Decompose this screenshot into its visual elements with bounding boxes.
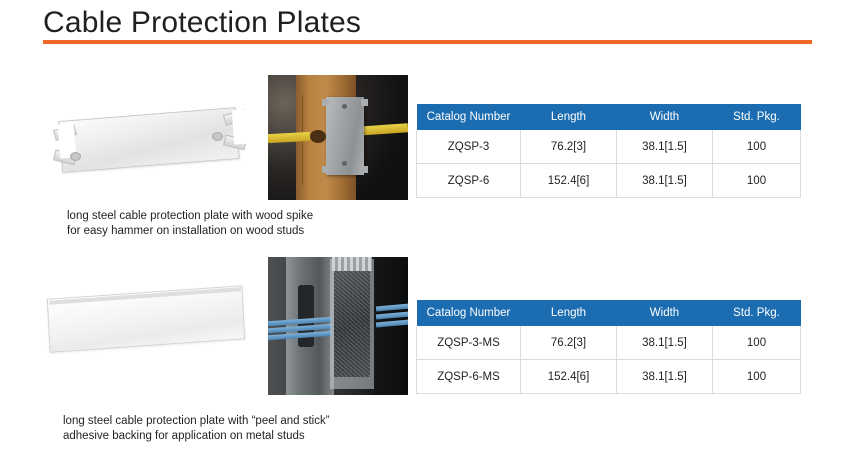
cell-std-pkg: 100: [713, 130, 801, 164]
column-header-std-pkg: Std. Pkg.: [713, 104, 801, 130]
notch-right: [232, 109, 251, 144]
column-header-length: Length: [521, 300, 617, 326]
drilled-hole: [310, 130, 326, 143]
page-title: Cable Protection Plates: [43, 6, 361, 40]
cell-std-pkg: 100: [713, 360, 801, 394]
cell-length: 152.4[6]: [521, 164, 617, 198]
plate-top-edge: [332, 257, 372, 271]
table-header-row: Catalog Number Length Width Std. Pkg.: [417, 300, 801, 326]
cell-length: 76.2[3]: [521, 130, 617, 164]
mounting-hole-left: [70, 152, 81, 161]
spec-table-wood-spike: Catalog Number Length Width Std. Pkg. ZQ…: [416, 104, 801, 198]
plate-body: [58, 107, 240, 173]
plate-tab-top-right: [361, 99, 368, 106]
product-caption-peel-and-stick: long steel cable protection plate with “…: [63, 414, 330, 444]
table-row: ZQSP-3 76.2[3] 38.1[1.5] 100: [417, 130, 801, 164]
table-row: ZQSP-3-MS 76.2[3] 38.1[1.5] 100: [417, 326, 801, 360]
cell-width: 38.1[1.5]: [617, 130, 713, 164]
cell-length: 76.2[3]: [521, 326, 617, 360]
steel-plate-with-spikes-illustration: [48, 100, 248, 178]
plate-tab-bottom-right: [361, 166, 368, 173]
plate-tab-top-left: [322, 99, 329, 106]
cell-width: 38.1[1.5]: [617, 326, 713, 360]
plate-adhesive-face: [334, 271, 370, 377]
cell-length: 152.4[6]: [521, 360, 617, 394]
flat-steel-plate-illustration: [48, 284, 248, 354]
plate-hole-top: [342, 104, 347, 109]
plate-tab-bottom-left: [322, 166, 329, 173]
installed-protection-plate: [326, 97, 364, 175]
table-row: ZQSP-6-MS 152.4[6] 38.1[1.5] 100: [417, 360, 801, 394]
spec-table-peel-and-stick: Catalog Number Length Width Std. Pkg. ZQ…: [416, 300, 801, 394]
caption-line-1: long steel cable protection plate with w…: [67, 209, 313, 224]
cell-width: 38.1[1.5]: [617, 164, 713, 198]
column-header-std-pkg: Std. Pkg.: [713, 300, 801, 326]
wood-stud-installation-photo: [268, 75, 408, 200]
table-row: ZQSP-6 152.4[6] 38.1[1.5] 100: [417, 164, 801, 198]
metal-stud-installation-photo: [268, 257, 408, 395]
table-header-row: Catalog Number Length Width Std. Pkg.: [417, 104, 801, 130]
column-header-catalog-number: Catalog Number: [417, 104, 521, 130]
mounting-hole-right: [212, 132, 223, 141]
plate-hole-bottom: [342, 161, 347, 166]
cell-std-pkg: 100: [713, 326, 801, 360]
caption-line-1: long steel cable protection plate with “…: [63, 414, 330, 429]
product-caption-wood-spike: long steel cable protection plate with w…: [67, 209, 313, 239]
cell-catalog-number: ZQSP-6-MS: [417, 360, 521, 394]
cell-width: 38.1[1.5]: [617, 360, 713, 394]
title-accent-rule: [43, 40, 812, 44]
cell-std-pkg: 100: [713, 164, 801, 198]
caption-line-2: adhesive backing for application on meta…: [63, 429, 330, 444]
caption-line-2: for easy hammer on installation on wood …: [67, 224, 313, 239]
column-header-width: Width: [617, 300, 713, 326]
cell-catalog-number: ZQSP-6: [417, 164, 521, 198]
column-header-width: Width: [617, 104, 713, 130]
column-header-catalog-number: Catalog Number: [417, 300, 521, 326]
column-header-length: Length: [521, 104, 617, 130]
cell-catalog-number: ZQSP-3: [417, 130, 521, 164]
cell-catalog-number: ZQSP-3-MS: [417, 326, 521, 360]
